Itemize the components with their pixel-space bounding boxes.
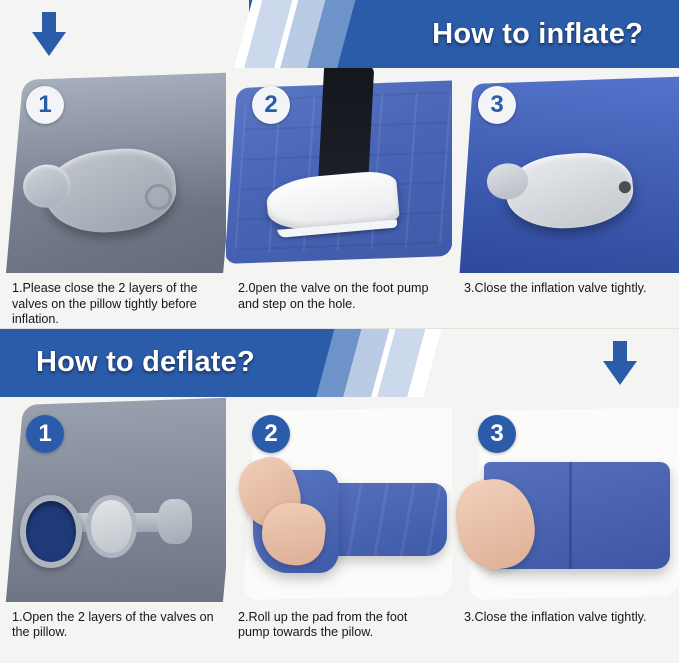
step-badge: 3 [478,86,516,124]
down-arrow-icon [32,12,66,56]
deflate-step-2-caption: 2.Roll up the pad from the foot pump tow… [226,602,452,650]
down-arrow-icon [603,341,637,385]
deflate-step-1-photo: 1 [0,397,226,602]
step-badge: 3 [478,415,516,453]
inflate-step-2-caption: 2.0pen the valve on the foot pump and st… [226,273,452,321]
arrow-head [32,32,66,56]
inflate-steps-row: 1 1.Please close the 2 layers of the val… [0,68,679,328]
deflate-step-2: 2 2.Roll up the pad from the foot pump t… [226,397,452,650]
arrow-shaft [613,341,627,363]
infographic-page: How to inflate? 1 1.Please close the 2 l… [0,0,679,663]
step-badge: 2 [252,86,290,124]
valve-strap-tab [158,499,192,544]
deflate-step-1: 1 1.Open the 2 layers of the valves on t… [0,397,226,650]
deflate-step-2-photo: 2 [226,397,452,602]
deflate-steps-row: 1 1.Open the 2 layers of the valves on t… [0,397,679,650]
arrow-shaft [42,12,56,34]
valve-cap [86,495,137,558]
inflate-title: How to inflate? [432,0,643,68]
deflate-title: How to deflate? [36,329,255,397]
step-badge: 1 [26,86,64,124]
deflate-step-3-caption: 3.Close the inflation valve tightly. [452,602,679,650]
deflate-banner: How to deflate? [0,329,679,397]
open-valve-ring [20,495,82,569]
deflate-step-3-photo: 3 [452,397,679,602]
inflate-step-3-caption: 3.Close the inflation valve tightly. [452,273,679,321]
inflate-banner: How to inflate? [0,0,679,68]
inflate-step-1: 1 1.Please close the 2 layers of the val… [0,68,226,328]
inflate-step-2-photo: 2 [226,68,452,273]
step-badge: 1 [26,415,64,453]
inflate-step-2: 2 2.0pen the valve on the foot pump and … [226,68,452,328]
inflate-step-1-photo: 1 [0,68,226,273]
arrow-head [603,361,637,385]
deflate-step-1-caption: 1.Open the 2 layers of the valves on the… [0,602,226,650]
step-badge: 2 [252,415,290,453]
deflate-step-3: 3 3.Close the inflation valve tightly. [452,397,679,650]
inflate-step-3-photo: 3 [452,68,679,273]
inflate-step-3: 3 3.Close the inflation valve tightly. [452,68,679,328]
inflate-step-1-caption: 1.Please close the 2 layers of the valve… [0,273,226,328]
